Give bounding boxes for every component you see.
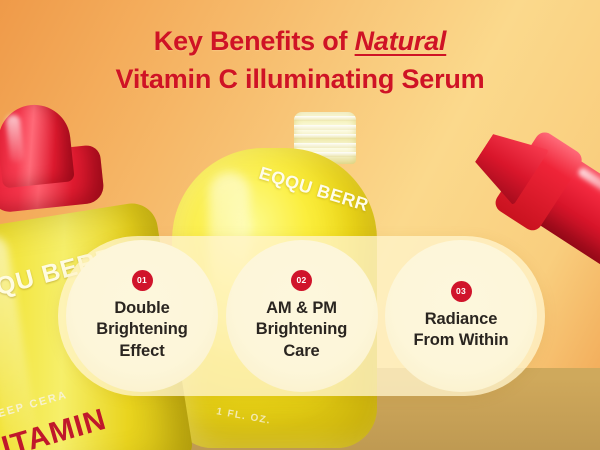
left-bottle-dropper-cap	[0, 98, 105, 213]
benefit-badge-01: 01	[132, 270, 153, 291]
banner-canvas: EQQU BERR 1 FL. OZ. EQQU BERR DEEP CERA …	[0, 0, 600, 450]
benefit-badge-02: 02	[291, 270, 312, 291]
headline-line2: Vitamin C illuminating Serum	[0, 60, 600, 98]
page-title: Key Benefits of Natural Vitamin C illumi…	[0, 22, 600, 99]
headline-line1-prefix: Key Benefits of	[154, 26, 355, 56]
benefit-title-01: Double Brightening Effect	[90, 298, 193, 362]
benefits-panel: 01 Double Brightening Effect 02 AM & PM …	[58, 236, 545, 396]
benefit-card-03: 03 Radiance From Within	[385, 240, 537, 392]
headline-emphasis-natural: Natural	[355, 26, 447, 56]
benefit-title-02: AM & PM Brightening Care	[250, 298, 353, 362]
benefit-title-03: Radiance From Within	[408, 309, 515, 352]
center-bottle-volume: 1 FL. OZ.	[215, 406, 271, 426]
benefit-card-02: 02 AM & PM Brightening Care	[226, 240, 378, 392]
benefit-card-01: 01 Double Brightening Effect	[66, 240, 218, 392]
benefit-badge-03: 03	[451, 281, 472, 302]
